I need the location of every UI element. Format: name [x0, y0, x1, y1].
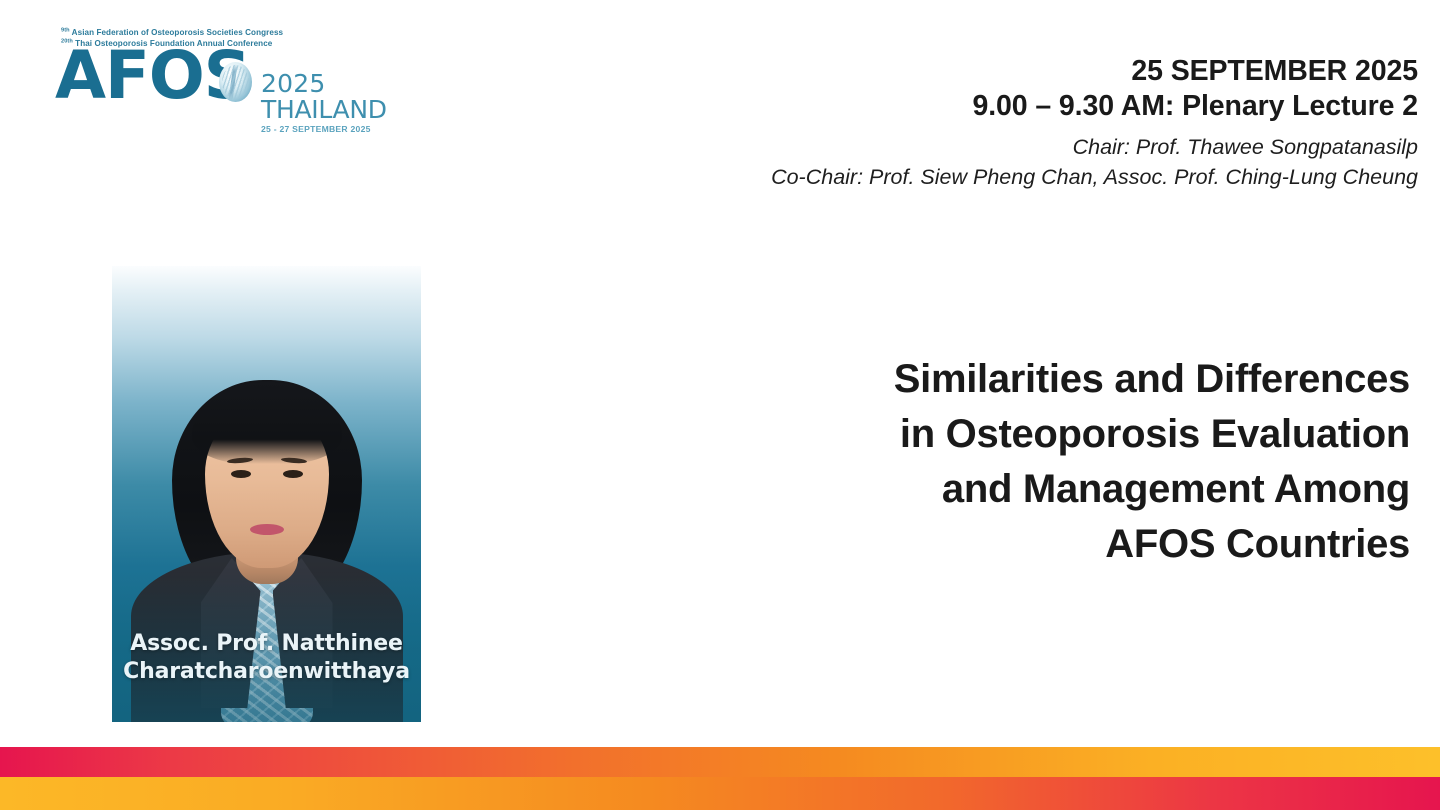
presentation-slide: 9th Asian Federation of Osteoporosis Soc…	[0, 0, 1440, 810]
lecture-title-line-2: in Osteoporosis Evaluation	[710, 407, 1410, 462]
session-time-title: 9.00 – 9.30 AM: Plenary Lecture 2	[598, 88, 1418, 124]
session-chair: Chair: Prof. Thawee Songpatanasilp	[598, 132, 1418, 162]
session-co-chair: Co-Chair: Prof. Siew Pheng Chan, Assoc. …	[598, 162, 1418, 192]
footer-gradient-bar-bottom	[0, 777, 1440, 810]
logo-year: 2025	[261, 71, 386, 97]
speaker-name-line-1: Assoc. Prof. Natthinee	[112, 630, 421, 658]
logo-reflection-text: AFOS	[55, 112, 250, 170]
speaker-name-caption: Assoc. Prof. Natthinee Charatcharoenwitt…	[112, 630, 421, 686]
bone-vertebra-icon	[219, 62, 252, 102]
session-date: 25 SEPTEMBER 2025	[598, 54, 1418, 88]
ordinal-9th: 9th	[61, 27, 70, 33]
footer-gradient-bar-top	[0, 747, 1440, 777]
logo-event-details: 2025 THAILAND 25 - 27 SEPTEMBER 2025	[261, 71, 386, 136]
afos-congress-logo: 9th Asian Federation of Osteoporosis Soc…	[55, 28, 385, 178]
lecture-title-line-4: AFOS Countries	[710, 517, 1410, 572]
logo-wordmark-row: AFOS 2025 THAILAND 25 - 27 SEPTEMBER 202…	[55, 49, 385, 111]
lecture-title: Similarities and Differences in Osteopor…	[710, 352, 1410, 572]
portrait-mouth	[250, 524, 284, 535]
session-header: 25 SEPTEMBER 2025 9.00 – 9.30 AM: Plenar…	[598, 54, 1418, 192]
lecture-title-line-1: Similarities and Differences	[710, 352, 1410, 407]
speaker-photo-card: Assoc. Prof. Natthinee Charatcharoenwitt…	[112, 266, 421, 722]
logo-dates: 25 - 27 SEPTEMBER 2025	[261, 123, 386, 136]
portrait-eye-left	[231, 470, 251, 478]
portrait-eye-right	[283, 470, 303, 478]
speaker-name-line-2: Charatcharoenwitthaya	[112, 658, 421, 686]
logo-country: THAILAND	[261, 97, 386, 123]
lecture-title-line-3: and Management Among	[710, 462, 1410, 517]
